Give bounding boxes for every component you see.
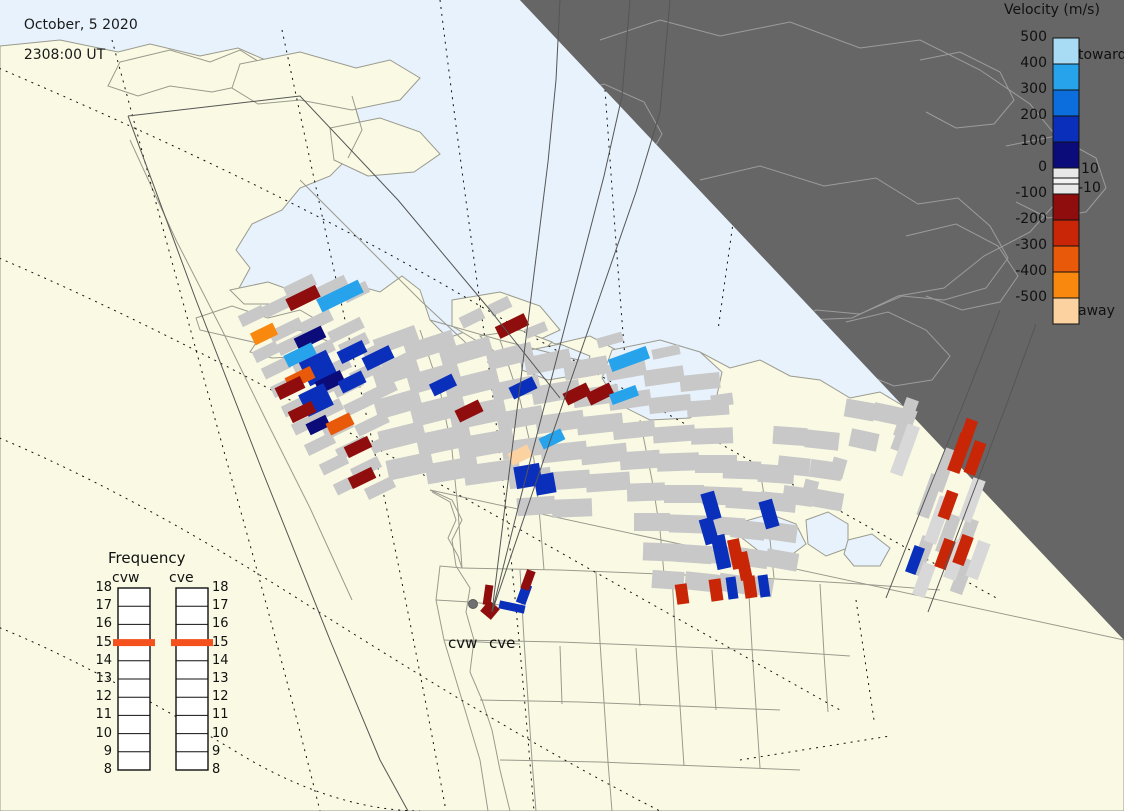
colorbar-inner-low-label: -10 <box>1078 180 1101 196</box>
frequency-tick-label-right: 18 <box>212 580 234 595</box>
ground-scatter-cell <box>675 544 712 564</box>
colorbar-inner-high-label: 10 <box>1081 161 1099 177</box>
ground-scatter-cell <box>643 542 678 561</box>
frequency-tick-label-left: 17 <box>90 598 112 613</box>
frequency-tick-label-left: 10 <box>90 726 112 741</box>
ground-scatter-cell <box>552 498 593 517</box>
frequency-tick-label-left: 11 <box>90 707 112 722</box>
colorbar-tick-label: 400 <box>995 55 1047 71</box>
colorbar-toward-label: toward <box>1078 47 1124 63</box>
radar-site-marker <box>469 600 478 609</box>
frequency-tick-label-left: 12 <box>90 689 112 704</box>
frequency-tick-label-left: 15 <box>90 635 112 650</box>
ground-scatter-cell <box>691 427 734 444</box>
ground-scatter-cell <box>723 460 762 479</box>
ground-scatter-cell <box>777 455 811 476</box>
ground-scatter-cell <box>730 519 766 540</box>
ground-scatter-cell <box>619 450 660 471</box>
colorbar-title: Velocity (m/s) <box>1004 2 1100 18</box>
frequency-tick-label-right: 12 <box>212 689 234 704</box>
frequency-tick-label-left: 9 <box>90 744 112 759</box>
frequency-tick-label-right: 10 <box>212 726 234 741</box>
colorbar-tick-label: -200 <box>995 211 1047 227</box>
ground-scatter-cell <box>772 426 807 446</box>
colorbar-tick-label: -400 <box>995 263 1047 279</box>
frequency-column-label-cvw: cvw <box>112 570 139 586</box>
ground-scatter-cell <box>634 513 670 531</box>
ground-scatter-cell <box>804 429 840 450</box>
ground-scatter-cell <box>627 482 666 501</box>
colorbar-tick-label: 100 <box>995 133 1047 149</box>
site-label-cve: cve <box>489 634 515 652</box>
site-label-cvw: cvw <box>448 634 477 652</box>
map-canvas <box>0 0 1124 811</box>
ground-scatter-cell <box>516 496 555 517</box>
timestamp-block: October, 5 2020 2308:00 UT <box>6 3 138 78</box>
frequency-tick-label-left: 16 <box>90 616 112 631</box>
colorbar-tick-label: -300 <box>995 237 1047 253</box>
frequency-tick-label-right: 9 <box>212 744 234 759</box>
frequency-tick-label-left: 14 <box>90 653 112 668</box>
ground-scatter-cell <box>725 490 762 510</box>
time-label: 2308:00 UT <box>24 47 105 63</box>
frequency-tick-label-left: 13 <box>90 671 112 686</box>
ground-scatter-cell <box>585 471 630 492</box>
frequency-tick-label-left: 18 <box>90 580 112 595</box>
colorbar-tick-label: -100 <box>995 185 1047 201</box>
ground-scatter-cell <box>652 425 695 444</box>
date-label: October, 5 2020 <box>24 17 138 33</box>
frequency-tick-label-right: 8 <box>212 762 234 777</box>
colorbar-tick-label: 300 <box>995 81 1047 97</box>
frequency-tick-label-right: 14 <box>212 653 234 668</box>
frequency-legend-title: Frequency <box>108 549 186 567</box>
frequency-tick-label-right: 17 <box>212 598 234 613</box>
velocity-cell <box>533 472 556 495</box>
colorbar-away-label: away <box>1078 303 1115 319</box>
frequency-tick-label-right: 15 <box>212 635 234 650</box>
radar-map-figure: October, 5 2020 2308:00 UT Velocity (m/s… <box>0 0 1124 811</box>
frequency-tick-label-right: 16 <box>212 616 234 631</box>
frequency-tick-label-right: 13 <box>212 671 234 686</box>
colorbar-tick-label: 500 <box>995 29 1047 45</box>
ground-scatter-cell <box>657 452 700 471</box>
frequency-tick-label-left: 8 <box>90 762 112 777</box>
colorbar-tick-label: -500 <box>995 289 1047 305</box>
colorbar-tick-label: 0 <box>995 159 1047 175</box>
frequency-tick-label-right: 11 <box>212 707 234 722</box>
ground-scatter-cell <box>664 485 704 503</box>
colorbar-tick-label: 200 <box>995 107 1047 123</box>
frequency-column-label-cve: cve <box>169 570 194 586</box>
